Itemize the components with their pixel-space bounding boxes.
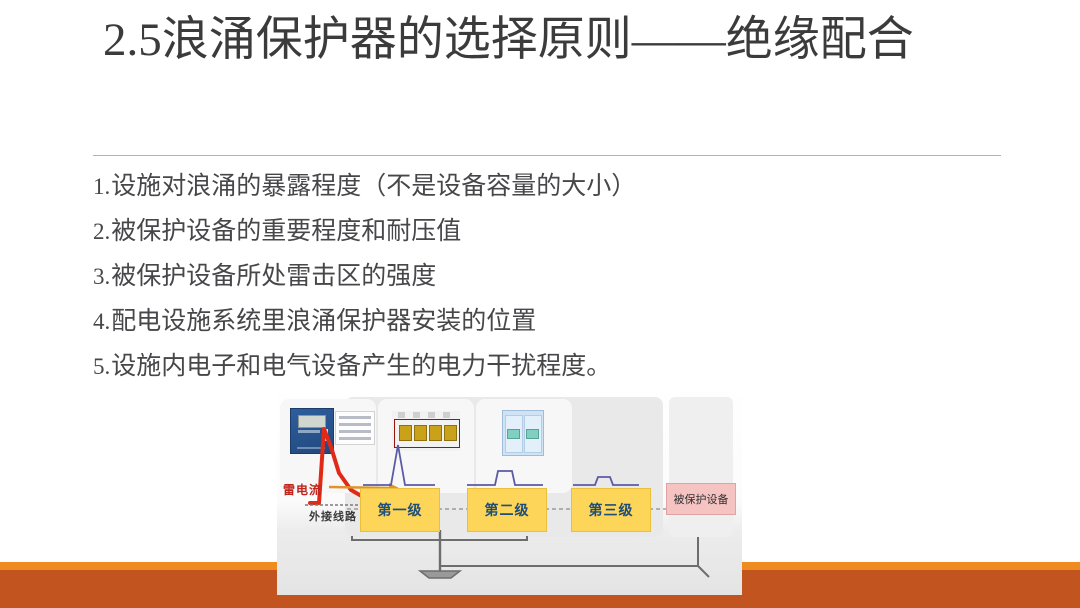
list-item-label: 被保护设备所处雷击区的强度 bbox=[111, 256, 436, 292]
list-item: 4. 配电设施系统里浪涌保护器安装的位置 bbox=[93, 301, 973, 346]
equipment-panel-background bbox=[669, 397, 733, 537]
lightning-current-label: 雷电流 bbox=[283, 481, 322, 498]
stage-box-1: 第一级 bbox=[360, 488, 440, 532]
list-item-label: 被保护设备的重要程度和耐压值 bbox=[111, 211, 461, 247]
waveform-stage-1-icon bbox=[363, 445, 435, 485]
external-line-label: 外接线路 bbox=[309, 508, 357, 524]
earth-tail-icon bbox=[698, 566, 709, 577]
list-item-label: 设施内电子和电气设备产生的电力干扰程度。 bbox=[111, 346, 611, 382]
list-item-number: 1. bbox=[93, 174, 110, 200]
protected-equipment-box: 被保护设备 bbox=[666, 483, 736, 515]
list-item-number: 4. bbox=[93, 309, 110, 335]
stage-box-3: 第三级 bbox=[571, 488, 651, 532]
list-item-label: 配电设施系统里浪涌保护器安装的位置 bbox=[111, 301, 536, 337]
title-divider bbox=[93, 155, 1001, 156]
page-title: 2.5浪涌保护器的选择原则——绝缘配合 bbox=[103, 16, 983, 64]
waveform-stage-2-icon bbox=[467, 471, 543, 485]
list-item: 3. 被保护设备所处雷击区的强度 bbox=[93, 256, 973, 301]
stage-box-2: 第二级 bbox=[467, 488, 547, 532]
list-item: 1. 设施对浪涌的暴露程度（不是设备容量的大小） bbox=[93, 166, 973, 211]
bullet-list: 1. 设施对浪涌的暴露程度（不是设备容量的大小） 2. 被保护设备的重要程度和耐… bbox=[93, 166, 973, 391]
spd-cascade-diagram: 第一级 第二级 第三级 被保护设备 雷电流 外接线路 bbox=[277, 385, 742, 595]
list-item: 2. 被保护设备的重要程度和耐压值 bbox=[93, 211, 973, 256]
waveform-stage-3-icon bbox=[573, 477, 639, 485]
list-item-label: 设施对浪涌的暴露程度（不是设备容量的大小） bbox=[111, 166, 636, 202]
list-item-number: 3. bbox=[93, 264, 110, 290]
list-item-number: 2. bbox=[93, 219, 110, 245]
ground-electrode-icon bbox=[420, 571, 460, 578]
list-item-number: 5. bbox=[93, 354, 110, 380]
